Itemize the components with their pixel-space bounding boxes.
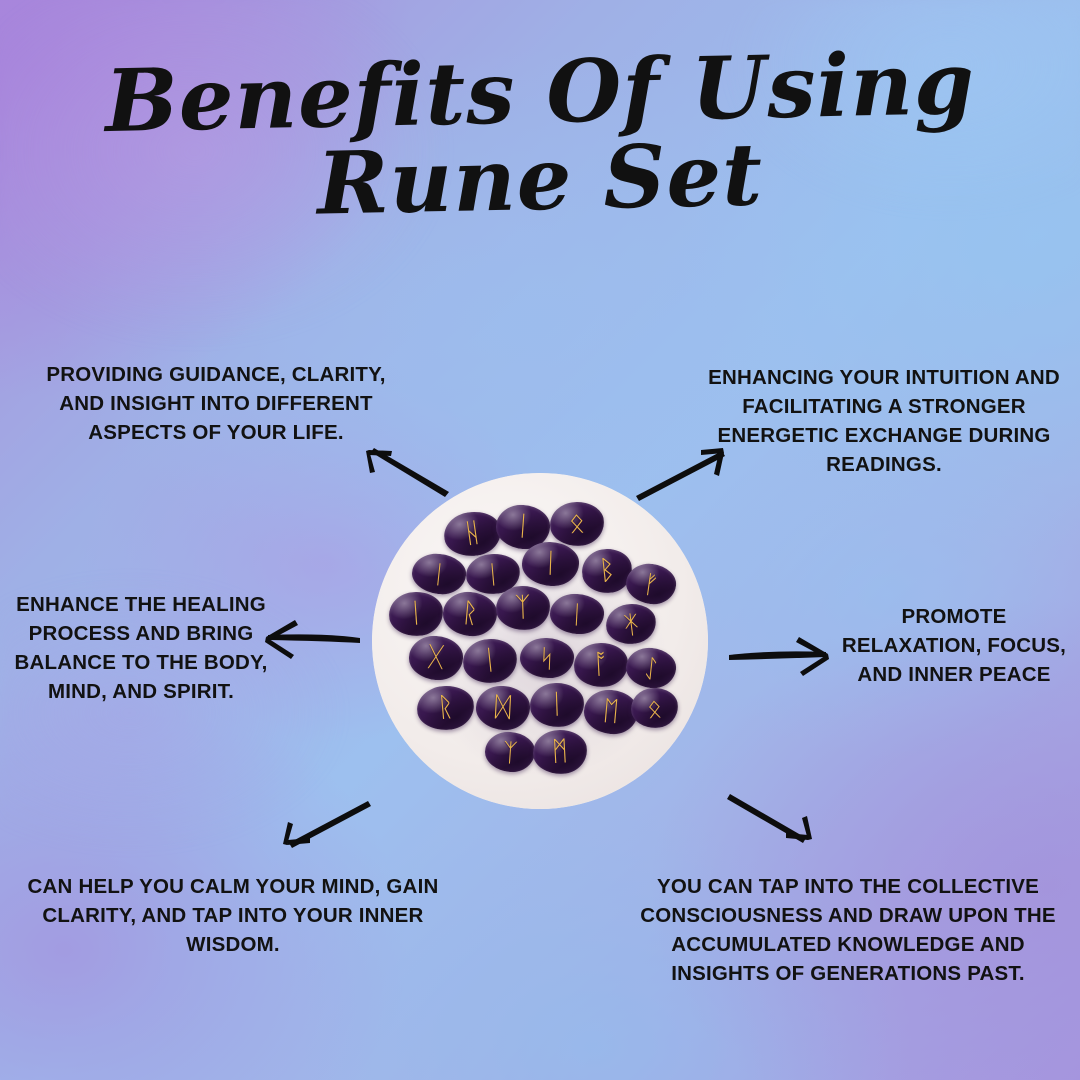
rune-stones-photo: ᚺᛁᛟᛁᛁᛁᛒᚠᛁᚱᛉᛁᛡᚷᛁᛋᚩᛇᚱᛞᛁᛖᛟᛉᛗ [372, 473, 708, 809]
rune-glyph: ᛁ [480, 647, 499, 676]
benefit-text-calm: CAN HELP YOU CALM YOUR MIND, GAIN CLARIT… [18, 872, 448, 959]
benefit-text-collective: YOU CAN TAP INTO THE COLLECTIVE CONSCIOU… [624, 872, 1072, 988]
rune-glyph: ᚠ [642, 570, 660, 597]
benefit-text-healing: ENHANCE THE HEALING PROCESS AND BRING BA… [8, 590, 274, 706]
rune-glyph: ᛁ [569, 601, 585, 627]
rune-glyph: ᛡ [622, 611, 640, 638]
rune-glyph: ᚱ [437, 694, 455, 722]
rune-glyph: ᛁ [542, 550, 559, 578]
rune-glyph: ᛟ [568, 509, 586, 537]
rune-glyph: ᚷ [427, 644, 445, 672]
infographic-poster: Benefits Of Using Rune Set ᚺᛁᛟᛁᛁᛁᛒᚠᛁᚱᛉᛁᛡ… [0, 0, 1080, 1080]
rune-glyph: ᛉ [515, 594, 532, 622]
rune-glyph: ᚱ [460, 600, 478, 628]
rune-glyph: ᛁ [407, 600, 425, 628]
rune-glyph: ᛉ [501, 739, 518, 765]
rune-glyph: ᛁ [514, 513, 532, 541]
rune-glyph: ᛁ [484, 561, 501, 587]
rune-glyph: ᛁ [430, 561, 448, 587]
benefit-text-intuition: ENHANCING YOUR INTUITION AND FACILITATIN… [706, 363, 1062, 479]
benefit-text-guidance: PROVIDING GUIDANCE, CLARITY, AND INSIGHT… [46, 360, 386, 447]
benefit-text-relaxation: PROMOTE RELAXATION, FOCUS, AND INNER PEA… [838, 602, 1070, 689]
rune-glyph: ᛁ [548, 691, 565, 719]
rune-glyph: ᛞ [494, 694, 512, 722]
rune-glyph: ᚺ [463, 519, 483, 548]
rune-glyph: ᛖ [601, 697, 619, 725]
rune-glyph: ᚩ [592, 651, 610, 679]
rune-glyph: ᛗ [551, 738, 569, 766]
rune-glyph: ᛒ [598, 556, 617, 585]
rune-glyph: ᛋ [539, 645, 555, 671]
rune-glyph: ᛇ [642, 655, 660, 681]
rune-glyph: ᛟ [646, 695, 663, 721]
